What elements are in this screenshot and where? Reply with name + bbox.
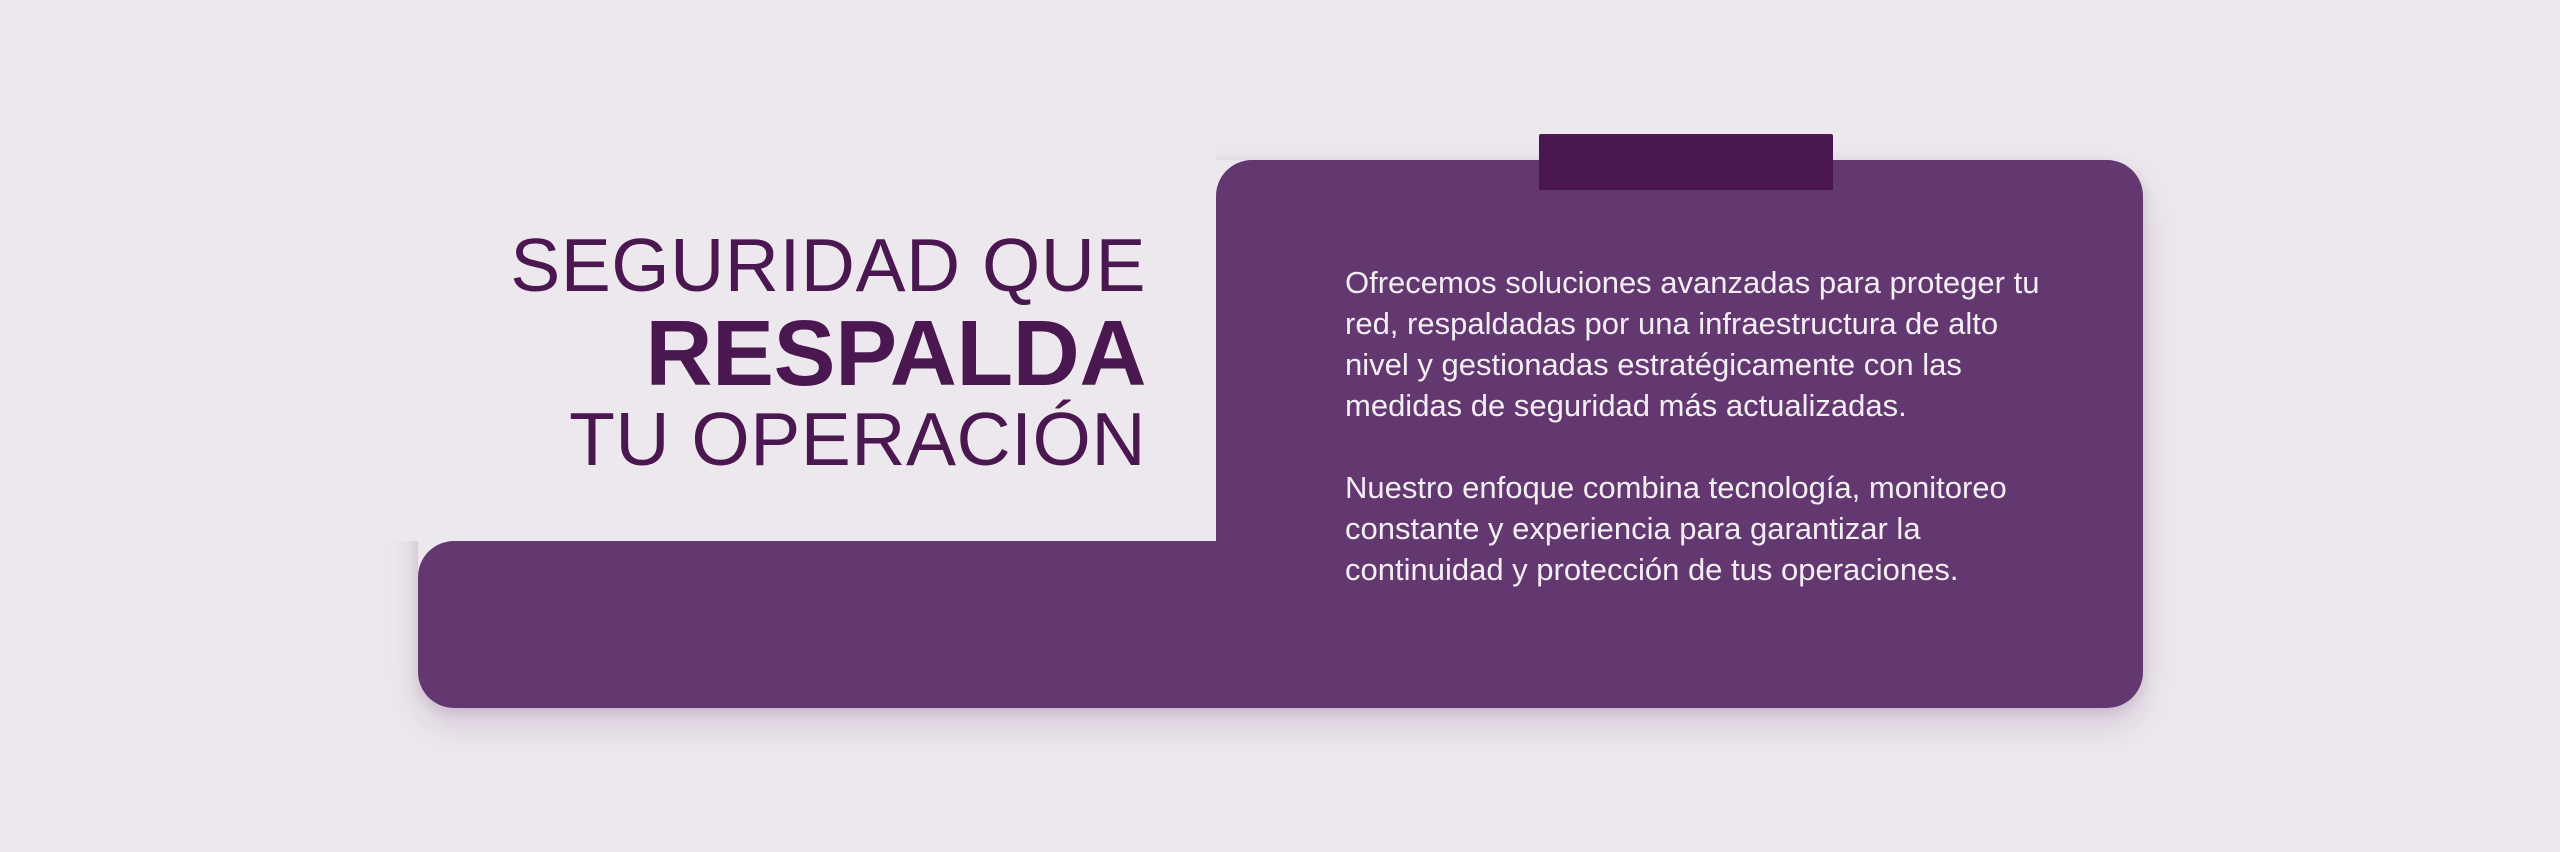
card-body-copy: Ofrecemos soluciones avanzadas para prot… bbox=[1345, 262, 2065, 590]
card-top-tab bbox=[1539, 134, 1833, 190]
heading-line-1: SEGURIDAD QUE bbox=[420, 228, 1146, 303]
heading-line-3: TU OPERACIÓN bbox=[420, 402, 1146, 477]
heading-line-2-emphasis: RESPALDA bbox=[420, 307, 1146, 400]
body-paragraph-2: Nuestro enfoque combina tecnología, moni… bbox=[1345, 467, 2065, 590]
promo-banner: SEGURIDAD QUE RESPALDA TU OPERACIÓN Ofre… bbox=[0, 0, 2560, 852]
page-title: SEGURIDAD QUE RESPALDA TU OPERACIÓN bbox=[420, 228, 1146, 477]
body-paragraph-1: Ofrecemos soluciones avanzadas para prot… bbox=[1345, 262, 2065, 426]
